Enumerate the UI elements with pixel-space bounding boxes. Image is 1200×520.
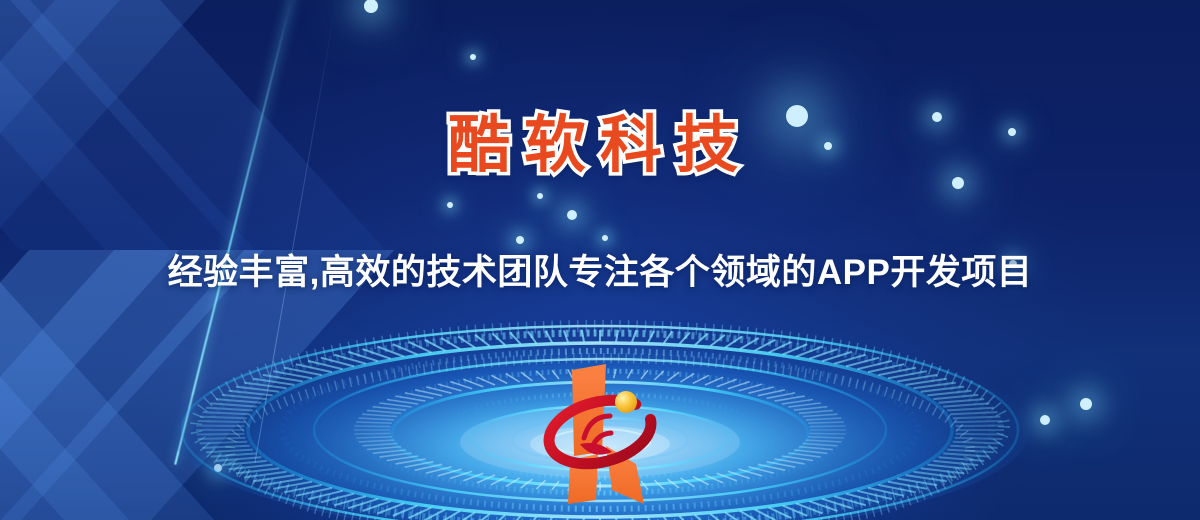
yellow-orb [615,391,637,413]
light-particle-icon [447,202,453,208]
light-particle-icon [1080,398,1092,410]
light-particle-icon [364,0,378,13]
company-logo [536,360,666,515]
light-beam-secondary-icon [254,0,337,463]
hero-banner: 酷软科技 酷软科技 经验丰富,高效的技术团队专注各个领域的APP开发项目 [0,0,1200,520]
banner-subtitle: 经验丰富,高效的技术团队专注各个领域的APP开发项目 [0,244,1200,295]
light-particle-icon [214,464,222,472]
light-beam-icon [174,0,302,465]
light-particle-icon [470,54,476,60]
light-particle-icon [567,210,577,220]
light-particle-icon [602,235,608,241]
light-particle-icon [516,236,524,244]
light-particle-icon [1040,415,1050,425]
banner-title: 酷软科技 酷软科技 [0,104,1200,188]
light-particle-icon [537,193,543,199]
banner-title-fill: 酷软科技 [0,104,1200,188]
